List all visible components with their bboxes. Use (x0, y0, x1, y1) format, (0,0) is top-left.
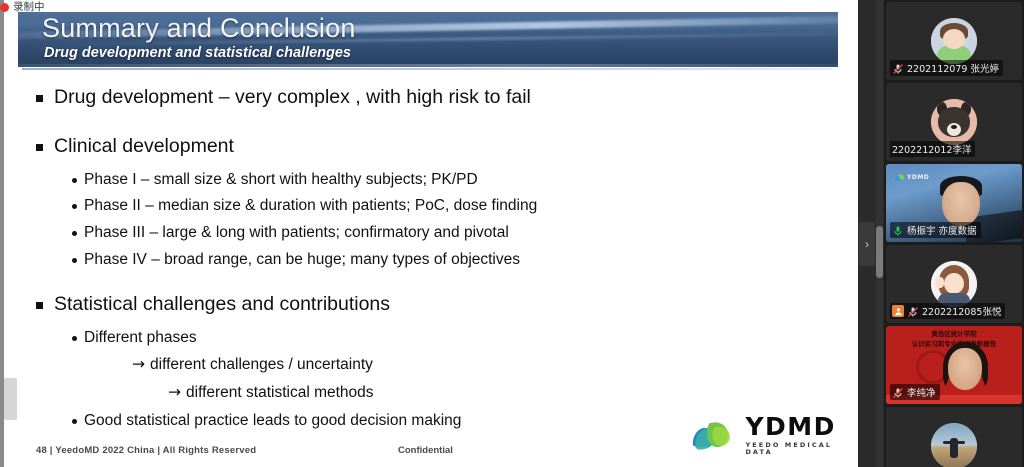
slide-bullet-l3: →different statistical methods (0, 383, 858, 403)
banner-bottom-highlight (18, 64, 838, 67)
participant-tile[interactable]: 2202212085张悦 (886, 245, 1022, 323)
ydmd-wordmark: YDMD (745, 414, 858, 439)
slide-subtitle: Drug development and statistical challen… (44, 45, 351, 61)
footer-copyright: 48 | YeedoMD 2022 China | All Rights Res… (36, 445, 256, 456)
avatar (931, 18, 977, 64)
bullet-text: different statistical methods (186, 384, 374, 401)
participant-name: 2202212085张悦 (922, 304, 1001, 318)
avatar (931, 99, 977, 145)
arrow-icon: → (132, 355, 145, 373)
participant-tile[interactable]: 2202212012李洋 (886, 83, 1022, 161)
shared-screen-slide: Summary and Conclusion Drug development … (0, 0, 858, 467)
recording-indicator: 录制中 (4, 2, 45, 13)
participant-tile[interactable]: YDMD杨振宇 亦度数据 (886, 164, 1022, 242)
recording-dot-icon (0, 3, 9, 12)
microphone-on-icon (892, 224, 904, 236)
participant-panel[interactable]: 2202112079 张光婷2202212012李洋YDMD杨振宇 亦度数据22… (884, 0, 1024, 467)
slide-bullet-l1: Drug development – very complex , with h… (0, 86, 858, 109)
person-face (948, 348, 982, 390)
participant-tile[interactable]: 2202112079 张光婷 (886, 2, 1022, 80)
slide-bullet-l3: →different challenges / uncertainty (0, 355, 858, 375)
ydmd-logo: YDMD YEEDO MEDICAL DATA (690, 414, 858, 455)
arrow-icon: → (168, 383, 181, 401)
ydmd-logo-text: YDMD YEEDO MEDICAL DATA (745, 414, 858, 455)
slide-title: Summary and Conclusion (42, 13, 356, 44)
collapse-panel-button[interactable]: › (859, 222, 875, 266)
slide-body: Drug development – very complex , with h… (0, 78, 858, 431)
recording-label: 录制中 (13, 2, 45, 13)
slide-bullet-l2: Phase II – median size & duration with p… (0, 197, 858, 216)
avatar (931, 261, 977, 307)
participant-nameplate: 2202212012李洋 (890, 141, 975, 157)
video-watermark-logo: YDMD (894, 173, 929, 182)
ydmd-tagline: YEEDO MEDICAL DATA (745, 442, 858, 455)
participant-panel-scrollbar-thumb[interactable] (876, 226, 883, 278)
slide-bullet-l1: Clinical development (0, 135, 858, 158)
bullet-text: different challenges / uncertainty (150, 356, 373, 373)
microphone-muted-icon (892, 62, 904, 74)
avatar (931, 423, 977, 467)
participant-nameplate: 李纯净 (890, 384, 940, 400)
microphone-muted-icon (907, 305, 919, 317)
participant-nameplate: 杨振宇 亦度数据 (890, 222, 981, 238)
slide-bullet-l2: Phase IV – broad range, can be huge; man… (0, 251, 858, 270)
host-badge-icon (892, 305, 904, 317)
slide-bullet-l2: Different phases (0, 329, 858, 348)
participant-name: 李纯净 (907, 385, 936, 399)
participant-nameplate: 2202212085张悦 (890, 303, 1005, 319)
ydmd-logo-mark-icon (690, 415, 739, 455)
participant-name: 杨振宇 亦度数据 (907, 223, 977, 237)
slide-title-banner: Summary and Conclusion Drug development … (18, 12, 838, 67)
participant-tile[interactable]: 黄岛区统计学院认识实习和专业实习表彰报告李纯净 (886, 326, 1022, 404)
participant-nameplate: 2202112079 张光婷 (890, 60, 1003, 76)
microphone-muted-icon (892, 386, 904, 398)
slide-bullet-l2: Phase III – large & long with patients; … (0, 224, 858, 243)
video-watermark-text: YDMD (907, 174, 929, 181)
participant-tile[interactable] (886, 407, 1022, 467)
participant-name: 2202112079 张光婷 (907, 61, 999, 75)
slide-bullet-l1: Statistical challenges and contributions (0, 293, 858, 316)
banner-underline (22, 68, 832, 70)
meeting-window: Summary and Conclusion Drug development … (0, 0, 1024, 467)
person-face (942, 182, 980, 226)
slide-bullet-l2: Phase I – small size & short with health… (0, 171, 858, 190)
footer-confidential-label: Confidential (398, 445, 453, 456)
participant-name: 2202212012李洋 (892, 142, 971, 156)
